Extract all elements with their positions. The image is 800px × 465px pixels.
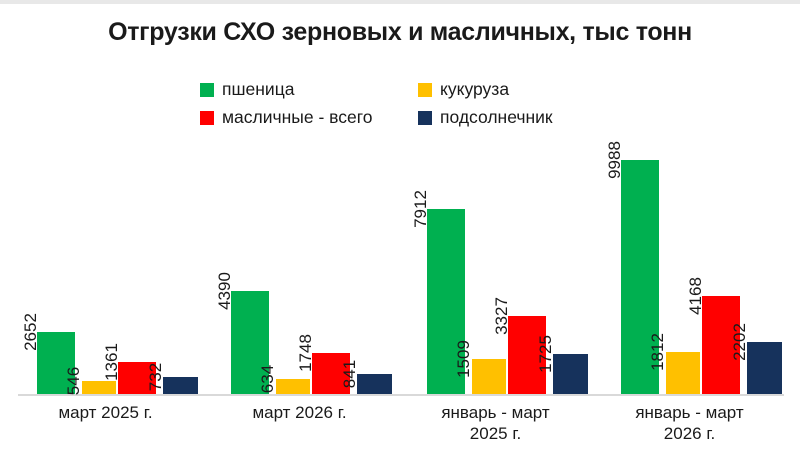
bar-value-label: 1748: [314, 334, 331, 372]
plot-area: 26525461361732март 2025 г.43906341748841…: [0, 0, 800, 465]
category-label: март 2025 г.: [23, 402, 188, 423]
chart-screenshot: Отгрузки СХО зерновых и масличных, тыс т…: [0, 0, 800, 465]
bar-value-label: 546: [82, 367, 99, 395]
bar: 1725: [553, 354, 588, 394]
bar-value-label: 1509: [472, 340, 489, 378]
bar-value-label: 1812: [666, 333, 683, 371]
bar-value-label: 841: [358, 360, 375, 388]
bar-value-label: 7912: [429, 190, 446, 228]
bar-value-label: 4390: [233, 272, 250, 310]
category-label: январь - март 2025 г.: [413, 402, 578, 445]
bar-value-label: 634: [276, 365, 293, 393]
bar: 2202: [747, 342, 782, 394]
bar: 546: [82, 381, 116, 394]
bar-value-label: 1725: [554, 335, 571, 373]
bar-value-label: 9988: [623, 141, 640, 179]
bar: 732: [163, 377, 198, 394]
bar-value-label: 3327: [510, 297, 527, 335]
bar-value-label: 732: [164, 363, 181, 391]
bar-value-label: 4168: [704, 277, 721, 315]
category-label: март 2026 г.: [217, 402, 382, 423]
bar: 634: [276, 379, 310, 394]
bar-value-label: 2202: [748, 323, 765, 361]
bar: 841: [357, 374, 392, 394]
bar-value-label: 2652: [39, 313, 56, 351]
category-label: январь - март 2026 г.: [607, 402, 772, 445]
bar: 1509: [472, 359, 506, 394]
category-axis-line: [18, 394, 784, 396]
bar: 1812: [666, 352, 700, 394]
bar-value-label: 1361: [120, 343, 137, 381]
